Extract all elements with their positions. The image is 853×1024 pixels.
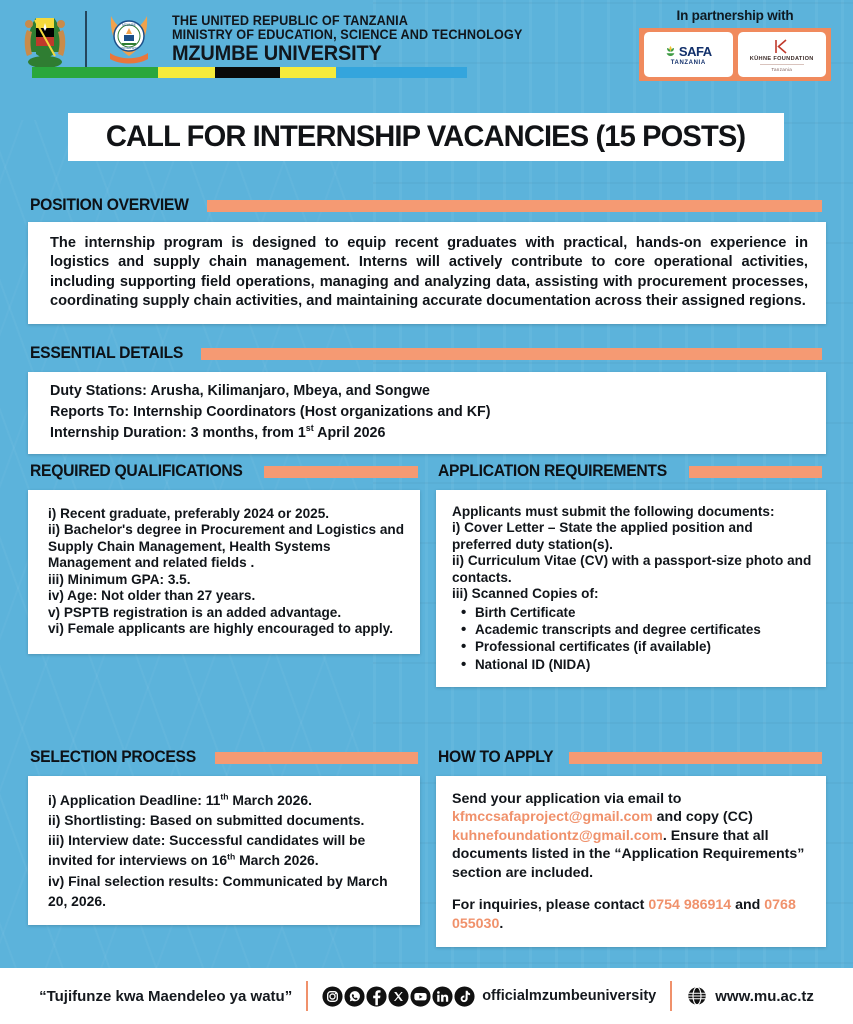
kuhne-logo-sub: Tanzania: [771, 67, 792, 72]
section-label-application-requirements: APPLICATION REQUIREMENTS: [438, 462, 667, 481]
page-title: CALL FOR INTERNSHIP VACANCIES (15 POSTS): [106, 120, 745, 154]
panel-essential-details: Duty Stations: Arusha, Kilimanjaro, Mbey…: [28, 372, 826, 454]
header-line-1: THE UNITED REPUBLIC OF TANZANIA: [172, 14, 522, 28]
section-heading-how-to-apply: HOW TO APPLY: [438, 748, 822, 767]
flag-segment: [158, 67, 215, 78]
tanzania-coat-of-arms-icon: [22, 8, 68, 70]
kuhne-logo-rule: [760, 64, 804, 65]
flag-segment: [215, 67, 280, 78]
list-item: ii) Curriculum Vitae (CV) with a passpor…: [452, 553, 814, 586]
social-icons-group[interactable]: officialmzumbeuniversity: [322, 986, 656, 1007]
list-item: National ID (NIDA): [460, 656, 814, 673]
section-rule: [215, 752, 418, 764]
how-to-apply-inquiries: For inquiries, please contact 0754 98691…: [452, 896, 812, 933]
website-url[interactable]: www.mu.ac.tz: [715, 988, 814, 1005]
list-item: ii) Bachelor's degree in Procurement and…: [48, 522, 406, 571]
spacer: [452, 882, 812, 896]
safa-logo-text: SAFA: [679, 44, 712, 59]
flag-segment: [280, 67, 337, 78]
linkedin-icon[interactable]: [432, 986, 453, 1007]
panel-application-requirements: Applicants must submit the following doc…: [436, 490, 826, 687]
section-rule: [207, 200, 822, 212]
x-icon[interactable]: [388, 986, 409, 1007]
kuhne-k-icon: [774, 38, 790, 55]
section-heading-application-requirements: APPLICATION REQUIREMENTS: [438, 462, 822, 481]
poster-footer: “Tujifunze kwa Maendeleo ya watu”: [0, 968, 853, 1024]
list-item: vi) Female applicants are highly encoura…: [48, 621, 406, 637]
application-requirements-intro: Applicants must submit the following doc…: [452, 504, 814, 520]
section-heading-selection-process: SELECTION PROCESS: [30, 748, 418, 767]
footer-divider: [306, 981, 308, 1011]
email-cc[interactable]: kuhnefoundationtz@gmail.com: [452, 828, 663, 844]
globe-icon: [686, 985, 708, 1007]
partnership-title: In partnership with: [639, 8, 831, 23]
section-label-essential-details: ESSENTIAL DETAILS: [30, 344, 183, 363]
list-item: iii) Scanned Copies of:: [452, 586, 814, 602]
how-to-apply-body: Send your application via email tokfmccs…: [452, 790, 812, 882]
section-heading-position-overview: POSITION OVERVIEW: [30, 196, 822, 215]
panel-position-overview: The internship program is designed to eq…: [28, 222, 826, 324]
social-handle[interactable]: officialmzumbeuniversity: [482, 988, 656, 1004]
header-divider: [85, 11, 87, 67]
list-item: ii) Shortlisting: Based on submitted doc…: [48, 810, 408, 830]
mzumbe-university-seal-icon: MZUMBE UNIVERSITY: [104, 10, 154, 68]
panel-required-qualifications: i) Recent graduate, preferably 2024 or 2…: [28, 490, 420, 654]
section-label-how-to-apply: HOW TO APPLY: [438, 748, 553, 767]
partner-logo-kuhne: KÜHNE FOUNDATION Tanzania: [738, 32, 827, 77]
svg-text:MZUMBE: MZUMBE: [122, 23, 136, 27]
header-line-3-university: MZUMBE UNIVERSITY: [172, 43, 526, 64]
section-rule: [201, 348, 822, 360]
safa-logo-sub: TANZANIA: [671, 60, 706, 66]
section-heading-required-qualifications: REQUIRED QUALIFICATIONS: [30, 462, 418, 481]
overview-body-text: The internship program is designed to eq…: [50, 234, 808, 312]
essential-details-rows: Duty Stations: Arusha, Kilimanjaro, Mbey…: [50, 381, 808, 444]
section-label-position-overview: POSITION OVERVIEW: [30, 196, 189, 215]
essential-detail-row: Reports To: Internship Coordinators (Hos…: [50, 402, 808, 423]
whatsapp-icon[interactable]: [344, 986, 365, 1007]
essential-detail-row: Internship Duration: 3 months, from 1st …: [50, 423, 808, 444]
phone-primary[interactable]: 0754 986914: [648, 897, 731, 913]
section-heading-essential-details: ESSENTIAL DETAILS: [30, 344, 822, 363]
list-item: v) PSPTB registration is an added advant…: [48, 605, 406, 621]
list-item: Birth Certificate: [460, 604, 814, 621]
partner-logo-box: SAFA TANZANIA KÜHNE FOUNDATION Tanzania: [639, 28, 831, 81]
qualifications-list: i) Recent graduate, preferably 2024 or 2…: [48, 506, 406, 638]
email-primary[interactable]: kfmccsafaproject@gmail.com: [452, 809, 653, 825]
flag-segment: [336, 67, 467, 78]
phone-secondary[interactable]: 0768 055030: [452, 897, 796, 931]
panel-selection-process: i) Application Deadline: 11th March 2026…: [28, 776, 420, 925]
list-item: i) Application Deadline: 11th March 2026…: [48, 790, 408, 810]
list-item: iv) Age: Not older than 27 years.: [48, 588, 406, 604]
selection-process-list: i) Application Deadline: 11th March 2026…: [48, 790, 408, 911]
section-rule: [264, 466, 418, 478]
application-requirements-list: i) Cover Letter – State the applied posi…: [452, 520, 814, 602]
panel-how-to-apply: Send your application via email tokfmccs…: [436, 776, 826, 947]
essential-detail-row: Duty Stations: Arusha, Kilimanjaro, Mbey…: [50, 381, 808, 402]
poster-header: MZUMBE UNIVERSITY THE UNITED REPUBLIC OF…: [0, 0, 853, 92]
scanned-copies-bullet-list: Birth CertificateAcademic transcripts an…: [452, 604, 814, 674]
list-item: i) Cover Letter – State the applied posi…: [452, 520, 814, 553]
safa-flower-icon: [665, 45, 676, 58]
poster-title-banner: CALL FOR INTERNSHIP VACANCIES (15 POSTS): [68, 113, 784, 161]
poster-page: MZUMBE UNIVERSITY THE UNITED REPUBLIC OF…: [0, 0, 853, 1024]
section-rule: [569, 752, 822, 764]
section-rule: [689, 466, 822, 478]
tanzania-flag-strip: [32, 67, 467, 78]
instagram-icon[interactable]: [322, 986, 343, 1007]
footer-divider: [670, 981, 672, 1011]
facebook-icon[interactable]: [366, 986, 387, 1007]
list-item: Professional certificates (if available): [460, 638, 814, 655]
kuhne-logo-text: KÜHNE FOUNDATION: [750, 56, 814, 62]
list-item: Academic transcripts and degree certific…: [460, 621, 814, 638]
list-item: iv) Final selection results: Communicate…: [48, 871, 408, 911]
section-label-selection-process: SELECTION PROCESS: [30, 748, 196, 767]
header-line-2: MINISTRY OF EDUCATION, SCIENCE AND TECHN…: [172, 28, 522, 42]
list-item: iii) Interview date: Successful candidat…: [48, 830, 408, 870]
list-item: i) Recent graduate, preferably 2024 or 2…: [48, 506, 406, 522]
section-label-required-qualifications: REQUIRED QUALIFICATIONS: [30, 462, 243, 481]
svg-text:UNIVERSITY: UNIVERSITY: [120, 46, 138, 50]
header-logos: MZUMBE UNIVERSITY THE UNITED REPUBLIC OF…: [22, 8, 545, 70]
tiktok-icon[interactable]: [454, 986, 475, 1007]
university-motto: “Tujifunze kwa Maendeleo ya watu”: [39, 988, 292, 1005]
flag-segment: [32, 67, 158, 78]
website-group[interactable]: www.mu.ac.tz: [686, 985, 814, 1007]
partner-logo-safa: SAFA TANZANIA: [644, 32, 733, 77]
header-titles: THE UNITED REPUBLIC OF TANZANIA MINISTRY…: [172, 14, 545, 64]
partnership-block: In partnership with SAFA TANZANIA: [639, 8, 831, 81]
list-item: iii) Minimum GPA: 3.5.: [48, 572, 406, 588]
youtube-icon[interactable]: [410, 986, 431, 1007]
